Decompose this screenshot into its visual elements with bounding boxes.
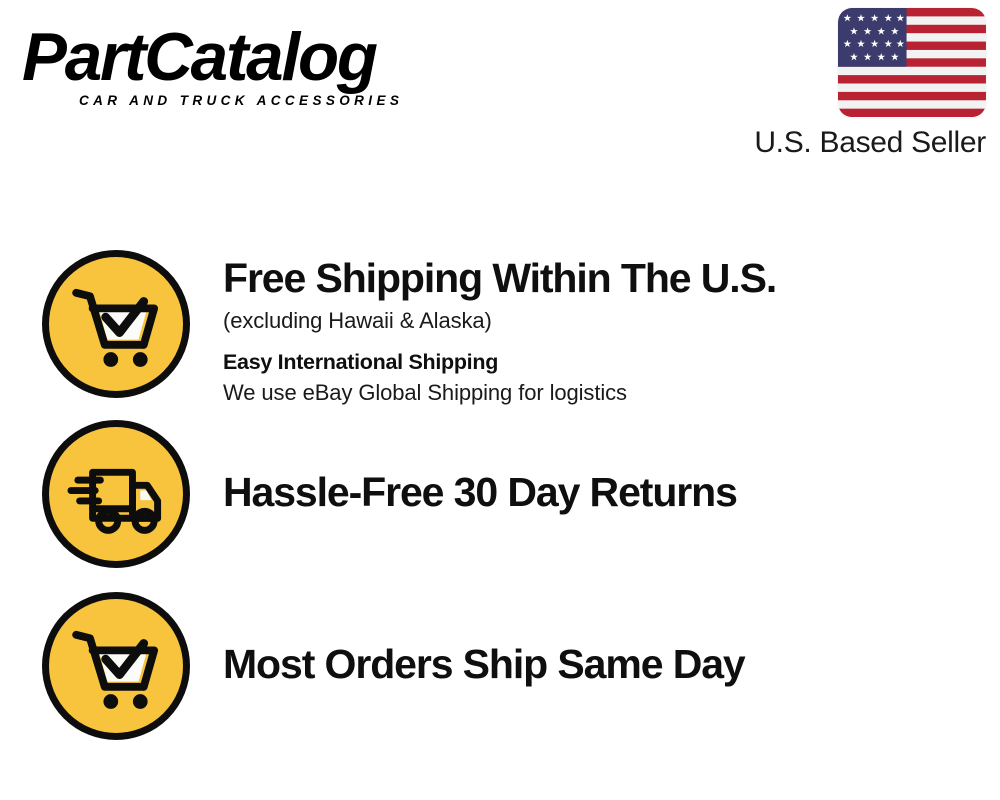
- shopping-cart-check-icon: [42, 250, 190, 398]
- feature-subtext: (excluding Hawaii & Alaska): [223, 306, 1000, 336]
- banner-header: PartCatalog CAR AND TRUCK ACCESSORIES: [0, 0, 1000, 175]
- feature-heading: Hassle-Free 30 Day Returns: [223, 468, 1000, 516]
- feature-heading: Most Orders Ship Same Day: [223, 640, 1000, 688]
- feature-row: Hassle-Free 30 Day Returns: [0, 420, 1000, 568]
- us-based-seller-block: U.S. Based Seller: [668, 8, 988, 160]
- brand-wordmark: PartCatalog: [22, 22, 487, 92]
- feature-text-block: Hassle-Free 30 Day Returns: [223, 420, 1000, 516]
- brand-logo: PartCatalog CAR AND TRUCK ACCESSORIES: [22, 22, 492, 117]
- feature-text-block: Most Orders Ship Same Day: [223, 592, 1000, 688]
- promo-banner: PartCatalog CAR AND TRUCK ACCESSORIES: [0, 0, 1000, 800]
- delivery-truck-icon: [42, 420, 190, 568]
- feature-row: Most Orders Ship Same Day: [0, 592, 1000, 740]
- brand-tagline: CAR AND TRUCK ACCESSORIES: [79, 93, 492, 108]
- us-flag-icon: [838, 8, 986, 118]
- us-based-seller-label: U.S. Based Seller: [668, 126, 986, 160]
- feature-text-block: Free Shipping Within The U.S. (excluding…: [223, 250, 1000, 408]
- feature-heading: Free Shipping Within The U.S.: [223, 254, 1000, 302]
- feature-subtext-secondary: We use eBay Global Shipping for logistic…: [223, 378, 1000, 408]
- feature-row: Free Shipping Within The U.S. (excluding…: [0, 250, 1000, 408]
- shopping-cart-check-icon: [42, 592, 190, 740]
- feature-subtext-bold: Easy International Shipping: [223, 347, 1000, 377]
